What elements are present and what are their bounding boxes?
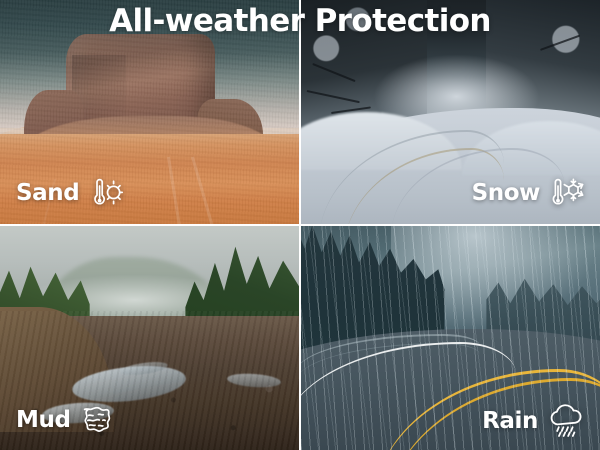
scene-label-snow: Snow xyxy=(472,176,586,210)
scene-label-mud-text: Mud xyxy=(16,407,71,433)
rain-cloud-icon xyxy=(546,404,588,438)
scene-label-sand: Sand xyxy=(16,176,125,210)
scene-label-sand-text: Sand xyxy=(16,180,79,206)
banner-title: All-weather Protection xyxy=(0,2,600,40)
scene-label-rain-text: Rain xyxy=(482,408,538,434)
scene-grid xyxy=(0,0,600,450)
scene-label-mud: Mud xyxy=(16,404,113,436)
mud-patch-icon xyxy=(79,404,113,436)
thermometer-snowflake-icon xyxy=(548,176,586,210)
all-weather-protection-banner: All-weather Protection Sand Snow xyxy=(0,0,600,450)
scene-label-snow-text: Snow xyxy=(472,180,540,206)
scene-label-rain: Rain xyxy=(482,404,588,438)
thermometer-sun-icon xyxy=(87,176,125,210)
